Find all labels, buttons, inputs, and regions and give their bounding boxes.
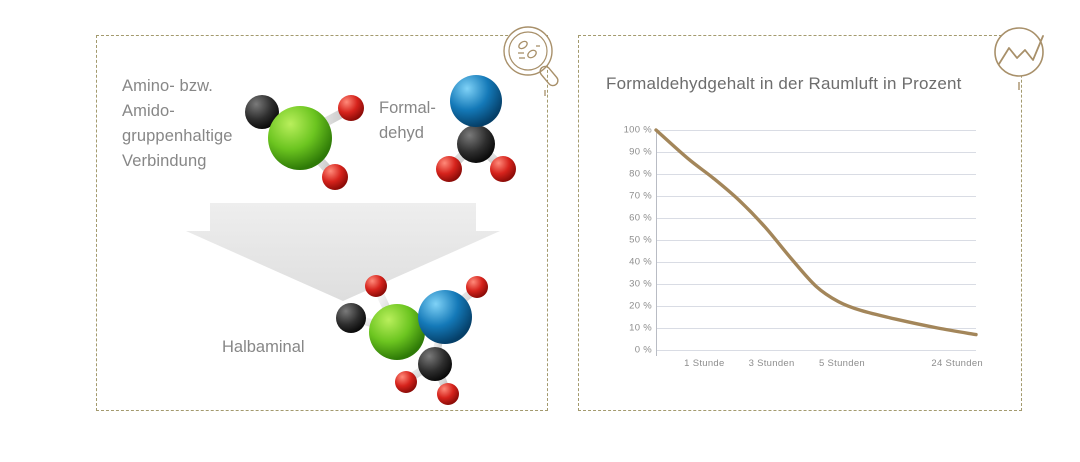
molecule-halbaminal [325,272,509,408]
trend-chart-circle-icon [986,22,1062,98]
molecule-formaldehyde [432,68,524,190]
chart-line-series [600,118,1000,383]
chart-title: Formaldehydgehalt in der Raumluft in Pro… [606,74,962,94]
chart: 100 %90 %80 %70 %60 %50 %40 %30 %20 %10 … [600,118,1000,383]
molecule-amino-compound [238,82,376,194]
halbaminal-label: Halbaminal [222,338,305,357]
